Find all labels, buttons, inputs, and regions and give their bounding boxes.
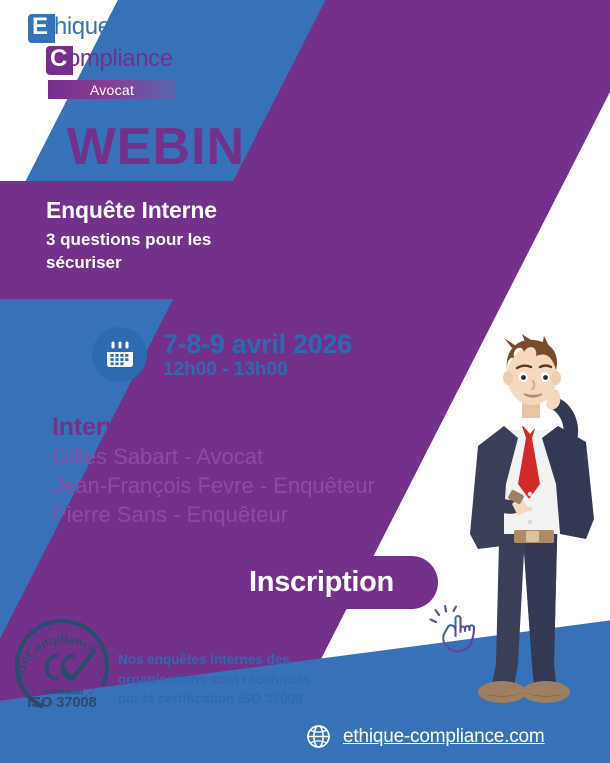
iso-text-line-1: Nos enquêtes internes des	[118, 650, 311, 670]
businessman-character-illustration	[462, 334, 610, 724]
iso-certification-text: Nos enquêtes internes des organisations …	[118, 650, 311, 709]
logo-word-compliance: Compliance	[50, 45, 173, 73]
logo-cap-c: C	[50, 45, 67, 72]
logo-cap-e: E	[32, 13, 48, 40]
speaker-item-3: Pierre Sans - Enquêteur	[52, 500, 375, 529]
brand-logo[interactable]: Ethique Compliance Avocat	[28, 14, 178, 94]
speaker-item-1: Gilles Sabart - Avocat	[52, 442, 375, 471]
logo-rest-ethique: thique	[48, 13, 111, 40]
iso-certification-badge: euroCompliance certification ISO 37008	[8, 612, 116, 720]
topic-subheading: 3 questions pour les sécuriser	[46, 229, 261, 275]
logo-rest-compliance: ompliance	[67, 45, 173, 72]
logo-avocat-bar: Avocat	[48, 80, 176, 99]
speakers-section: Intervenants : Gilles Sabart - Avocat Je…	[52, 413, 375, 529]
inscription-button[interactable]: Inscription	[205, 556, 438, 609]
logo-line-ethique: Ethique	[28, 14, 178, 44]
topic-heading: Enquête Interne	[46, 197, 322, 224]
globe-icon	[306, 724, 331, 749]
event-time: 12h00 - 13h00	[163, 359, 352, 381]
page-title: WEBINAIRE	[0, 117, 440, 177]
logo-word-ethique: Ethique	[32, 13, 111, 41]
event-date-block: 7-8-9 avril 2026 12h00 - 13h00	[92, 327, 352, 382]
speaker-item-2: Jean-François Fevre - Enquêteur	[52, 471, 375, 500]
logo-avocat-label: Avocat	[90, 82, 134, 98]
logo-line-compliance: Compliance	[28, 46, 178, 76]
iso-text-line-2: organisations sont reconnues	[118, 670, 311, 690]
speakers-heading: Intervenants :	[52, 413, 375, 442]
event-date-text: 7-8-9 avril 2026 12h00 - 13h00	[163, 329, 352, 381]
website-link[interactable]: ethique-compliance.com	[306, 724, 545, 749]
topic-banner: Enquête Interne 3 questions pour les séc…	[0, 181, 322, 299]
calendar-icon	[92, 327, 147, 382]
website-url-text: ethique-compliance.com	[343, 726, 545, 748]
event-dates: 7-8-9 avril 2026	[163, 329, 352, 360]
poster-canvas: Ethique Compliance Avocat WEBINAIRE Enqu…	[0, 0, 610, 763]
svg-text:ISO 37008: ISO 37008	[27, 695, 96, 711]
iso-text-line-3: par la certification ISO 37008	[118, 689, 311, 709]
